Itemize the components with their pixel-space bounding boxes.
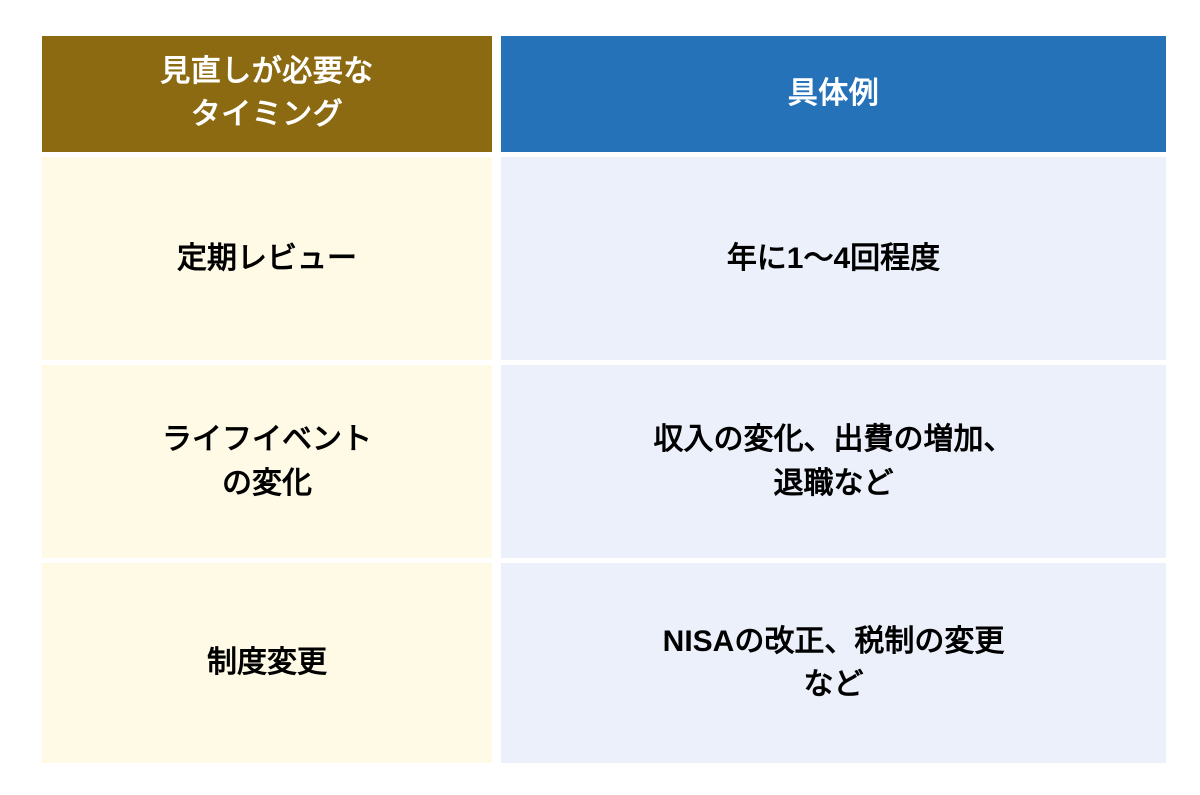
text-line: 見直しが必要な [42,51,492,94]
table-row: ライフイベントの変化 収入の変化、出費の増加、退職など [42,365,1166,558]
column-gutter [492,36,501,152]
column-header-timing: 見直しが必要なタイミング [42,36,492,152]
comparison-table: 見直しが必要なタイミング 具体例 定期レビュー 年に1〜4回程度 [42,36,1166,763]
table-header: 見直しが必要なタイミング 具体例 [42,36,1166,152]
row-gutter-3 [492,563,501,763]
cell-timing-2: ライフイベントの変化 [42,365,492,558]
text-line: NISAの改正、税制の変更 [501,620,1166,664]
slide-canvas: 見直しが必要なタイミング 具体例 定期レビュー 年に1〜4回程度 [0,0,1200,795]
cell-example-3: NISAの改正、税制の変更など [501,563,1166,763]
table-row: 定期レビュー 年に1〜4回程度 [42,157,1166,360]
table-row: 制度変更 NISAの改正、税制の変更など [42,563,1166,763]
text-line: ライフイベント [42,418,492,462]
row-gutter-1 [492,157,501,360]
row-gutter-2 [492,365,501,558]
text-line: 収入の変化、出費の増加、 [501,418,1166,462]
column-header-example: 具体例 [501,36,1166,152]
cell-timing-1: 定期レビュー [42,157,492,360]
text-line: など [501,663,1166,707]
text-line: 退職など [501,462,1166,506]
text-line: の変化 [42,462,492,506]
cell-example-2: 収入の変化、出費の増加、退職など [501,365,1166,558]
cell-example-1: 年に1〜4回程度 [501,157,1166,360]
header-row: 見直しが必要なタイミング 具体例 [42,36,1166,152]
cell-timing-3: 制度変更 [42,563,492,763]
table-body: 定期レビュー 年に1〜4回程度 ライフイベントの変化 収入の変化、出費の増加、退… [42,152,1166,763]
text-line: タイミング [42,94,492,137]
